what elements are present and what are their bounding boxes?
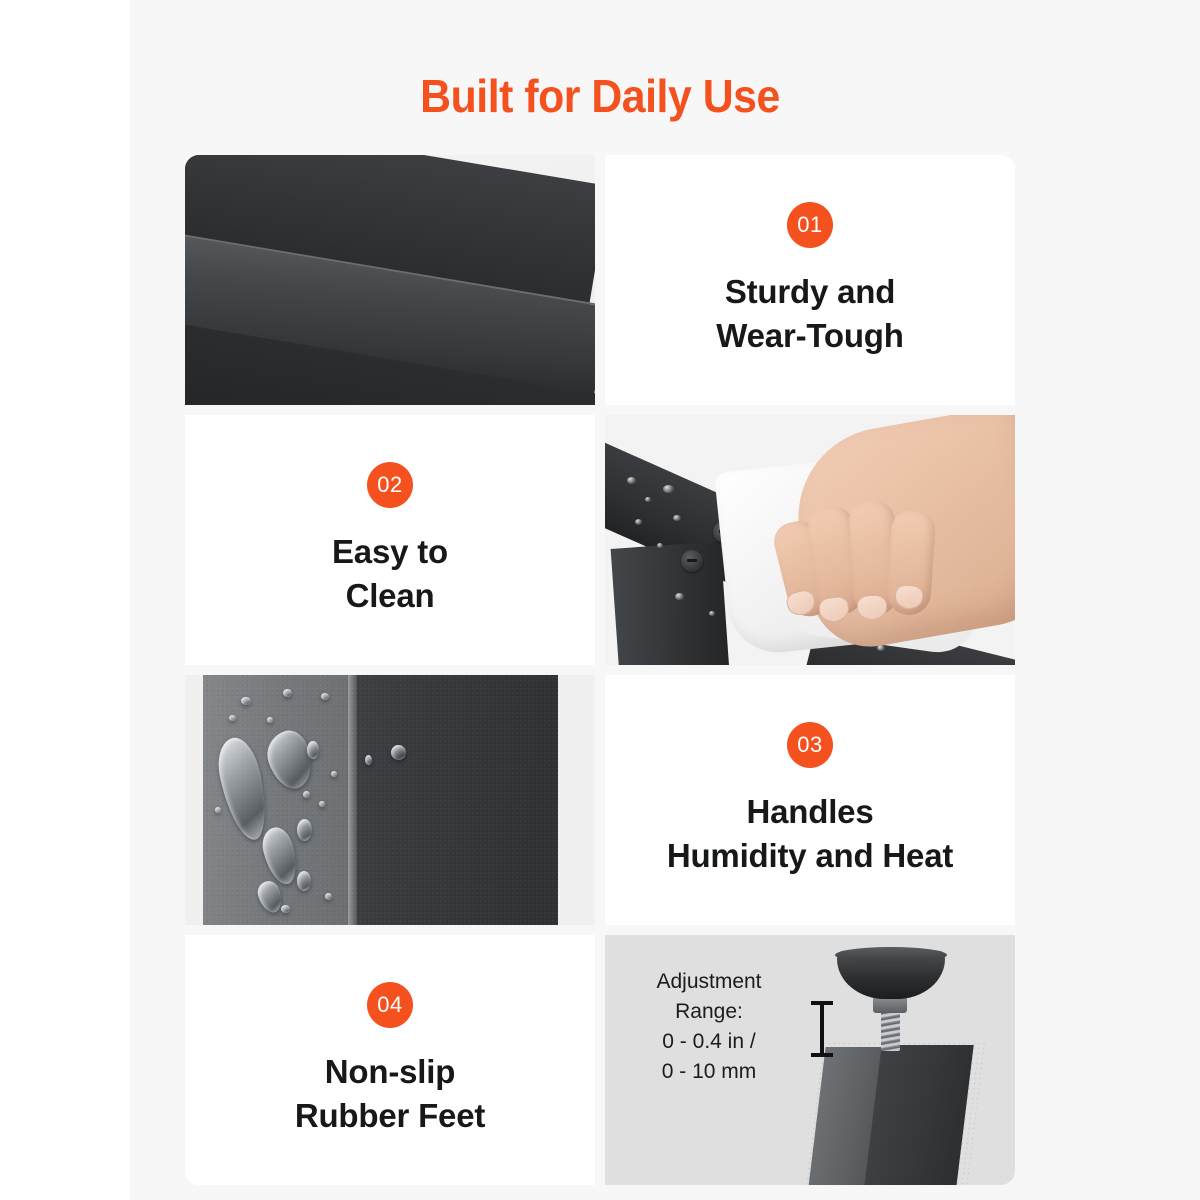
feature-badge-01: 01 <box>787 202 833 248</box>
feature-text-humidity: 03 Handles Humidity and Heat <box>605 675 1015 925</box>
feature-text-feet: 04 Non-slip Rubber Feet <box>185 935 595 1185</box>
water-droplet <box>673 515 681 521</box>
hand-wiping-frame-with-cloth-photo <box>605 415 1015 665</box>
water-droplet <box>635 519 642 525</box>
feature-grid: 01 Sturdy and Wear-Tough 02 Easy to Clea… <box>185 155 1015 1155</box>
water-droplet <box>663 485 674 493</box>
feature-title-sturdy: Sturdy and Wear-Tough <box>716 270 903 358</box>
water-droplet <box>675 593 684 600</box>
water-droplet <box>325 893 332 900</box>
feature-title-feet: Non-slip Rubber Feet <box>295 1050 485 1138</box>
adjustment-range-label: Adjustment Range: 0 - 0.4 in / 0 - 10 mm <box>619 967 799 1087</box>
frame-vertical-post <box>611 541 730 665</box>
dimension-cap-bottom <box>811 1053 833 1057</box>
water-droplet <box>319 801 325 807</box>
rubber-foot-cap-top <box>835 947 947 963</box>
water-droplet <box>303 791 310 798</box>
feature-badge-02: 02 <box>367 462 413 508</box>
threaded-screw <box>881 1009 900 1051</box>
water-droplet <box>627 477 636 484</box>
feature-image-feet: Adjustment Range: 0 - 0.4 in / 0 - 10 mm <box>605 935 1015 1185</box>
dimension-line <box>820 1001 824 1057</box>
water-droplet <box>709 611 715 616</box>
water-droplet <box>645 497 651 502</box>
water-droplet <box>297 819 312 841</box>
water-droplet <box>241 697 251 705</box>
water-droplet <box>307 741 319 759</box>
water-droplet <box>365 755 372 765</box>
water-droplet <box>267 717 273 723</box>
adjustable-rubber-foot-photo: Adjustment Range: 0 - 0.4 in / 0 - 10 mm <box>605 935 1015 1185</box>
feature-image-sturdy <box>185 155 595 405</box>
water-droplet <box>215 807 221 813</box>
water-droplet <box>229 715 236 721</box>
water-droplet <box>391 745 406 760</box>
water-droplet <box>657 543 663 548</box>
feature-title-humidity: Handles Humidity and Heat <box>667 790 953 878</box>
water-droplet <box>297 871 311 891</box>
page-title: Built for Daily Use <box>42 68 1158 124</box>
water-droplet <box>321 693 329 700</box>
infographic-page: Built for Daily Use 01 Sturdy and Wear-T… <box>0 0 1200 1200</box>
feature-text-clean: 02 Easy to Clean <box>185 415 595 665</box>
water-droplet <box>283 689 292 697</box>
screw-icon <box>681 550 703 572</box>
steel-beam-closeup-photo <box>185 155 595 405</box>
feature-title-clean: Easy to Clean <box>332 530 448 618</box>
feature-text-sturdy: 01 Sturdy and Wear-Tough <box>605 155 1015 405</box>
feature-badge-04: 04 <box>367 982 413 1028</box>
water-droplet <box>281 905 290 913</box>
feature-image-humidity <box>185 675 595 925</box>
feature-image-clean <box>605 415 1015 665</box>
water-droplet <box>331 771 337 777</box>
feature-badge-03: 03 <box>787 722 833 768</box>
water-droplets-on-metal-photo <box>185 675 595 925</box>
table-leg-right-face <box>864 1045 973 1185</box>
